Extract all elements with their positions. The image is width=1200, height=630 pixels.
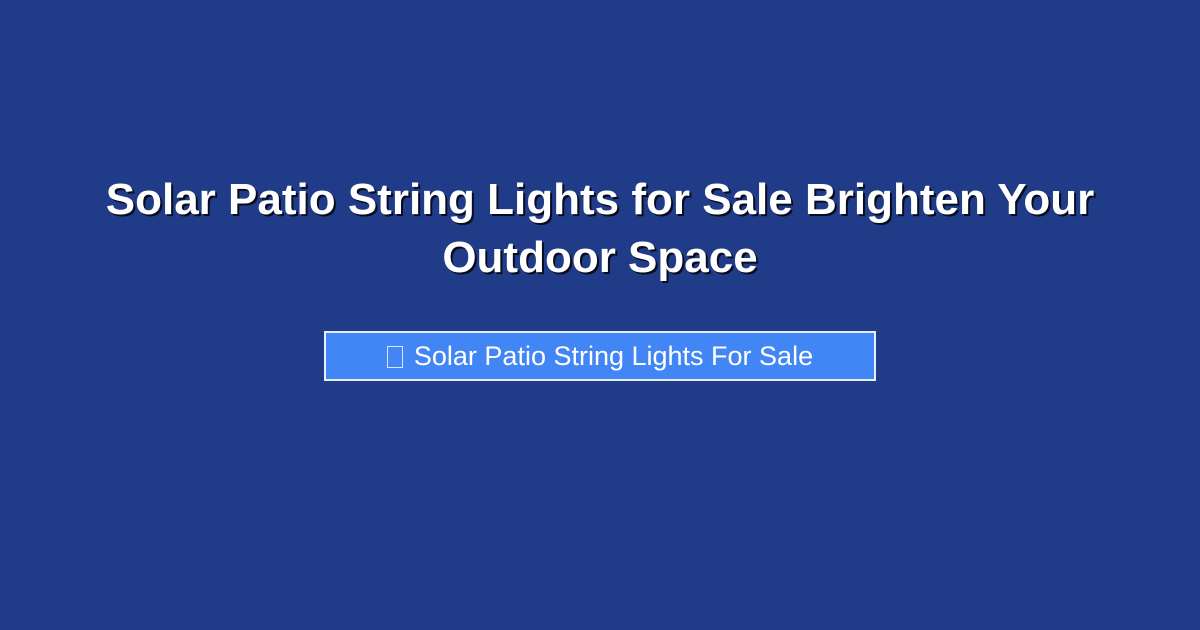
missing-glyph-box-icon: [387, 346, 403, 368]
cta-button-label: Solar Patio String Lights For Sale: [414, 341, 813, 371]
cta-button[interactable]: Solar Patio String Lights For Sale: [324, 331, 876, 381]
og-image-card: Solar Patio String Lights for Sale Brigh…: [0, 0, 1200, 630]
page-title: Solar Patio String Lights for Sale Brigh…: [95, 171, 1105, 287]
content-stack: Solar Patio String Lights for Sale Brigh…: [0, 171, 1200, 381]
